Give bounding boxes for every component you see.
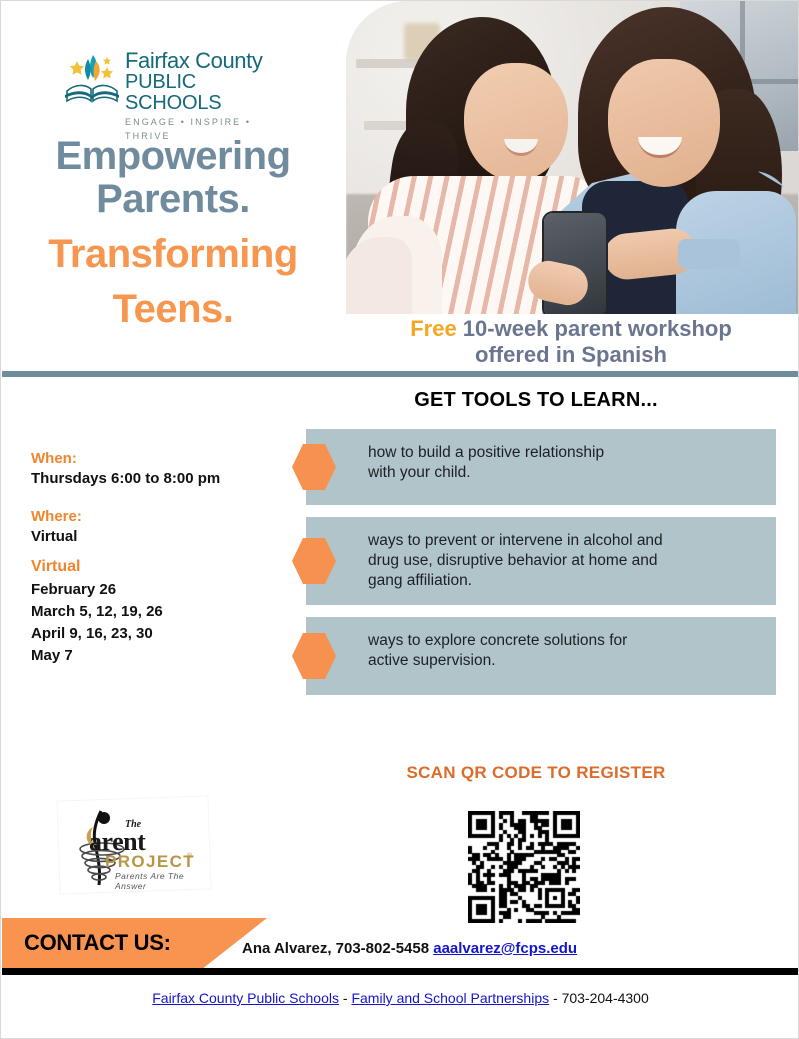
hexagon-bullet-icon [292,631,336,681]
subtitle-line-2: offered in Spanish [346,342,796,368]
benefit-item: ways to explore concrete solutions for a… [306,617,776,695]
hero-photo-mother-and-teen [346,1,799,314]
benefit-text: ways to explore concrete solutions for a… [368,631,760,671]
benefit-item: ways to prevent or intervene in alcohol … [306,517,776,605]
where-label: Where: [31,507,281,527]
qr-code-canvas[interactable] [468,811,580,923]
schedule-line: April 9, 16, 23, 30 [31,623,281,645]
headline-line-3: Transforming [23,233,323,276]
benefit-line: with your child. [368,463,760,483]
qr-heading: SCAN QR CODE TO REGISTER [301,763,771,783]
event-details: When: Thursdays 6:00 to 8:00 pm Where: V… [31,449,281,547]
parent-cuff [678,239,740,269]
parent-face [608,59,720,187]
benefit-item: how to build a positive relationship wit… [306,429,776,505]
contact-label: CONTACT US: [24,930,171,956]
fcps-name-line1: Fairfax County [125,49,263,72]
fcps-name-line2: PUBLIC SCHOOLS [125,72,263,114]
schedule-line: March 5, 12, 19, 26 [31,601,281,623]
benefit-line: ways to prevent or intervene in alcohol … [368,531,760,551]
logo-tagline: Parents Are The Answer [115,871,209,891]
subtitle-line-1: Free 10-week parent workshop [346,316,796,342]
footer-link-fcps[interactable]: Fairfax County Public Schools [152,990,339,1006]
headline-line-4: Teens. [23,288,323,331]
fcps-logo: Fairfax County PUBLIC SCHOOLS ENGAGE • I… [63,49,263,111]
contact-info: Ana Alvarez, 703-802-5458 aaalvarez@fcps… [242,940,577,957]
subtitle-highlight: Free [410,316,456,341]
footer-phone: 703-204-4300 [562,990,649,1006]
teen-face [464,63,568,181]
headline-line-2: Parents. [23,178,323,221]
fcps-logo-text: Fairfax County PUBLIC SCHOOLS ENGAGE • I… [125,49,263,143]
benefit-line: gang affiliation. [368,571,760,591]
schedule-line: February 26 [31,579,281,601]
tools-heading: GET TOOLS TO LEARN... [301,389,771,412]
when-value: Thursdays 6:00 to 8:00 pm [31,469,281,489]
section-divider [2,371,799,377]
footer: Fairfax County Public Schools - Family a… [2,990,799,1006]
spacer [31,489,281,507]
contact-banner: CONTACT US: Ana Alvarez, 703-802-5458 aa… [2,918,799,968]
logo-project-text: PROJECT [105,852,195,872]
benefit-line: active supervision. [368,651,760,671]
footer-separator: - [549,990,561,1006]
hexagon-bullet-icon [292,442,336,492]
teen-sleeve [346,237,412,314]
benefit-line: drug use, disruptive behavior at home an… [368,551,760,571]
benefit-text: how to build a positive relationship wit… [368,443,760,483]
subtitle-rest: 10-week parent workshop [457,316,732,341]
logo-registered-mark: ® [187,853,192,860]
contact-name-phone: Ana Alvarez, 703-802-5458 [242,940,433,957]
benefits-list: how to build a positive relationship wit… [306,429,776,707]
contact-email-link[interactable]: aaalvarez@fcps.edu [433,940,577,957]
benefit-line: ways to explore concrete solutions for [368,631,760,651]
footer-link-partnerships[interactable]: Family and School Partnerships [351,990,549,1006]
schedule-line: May 7 [31,645,281,667]
footer-rule [2,968,799,975]
schedule-heading: Virtual [31,555,281,579]
subtitle: Free 10-week parent workshop offered in … [346,316,796,368]
hexagon-bullet-icon [292,536,336,586]
schedule-list: Virtual February 26 March 5, 12, 19, 26 … [31,555,281,667]
when-label: When: [31,449,281,469]
flyer-headline: Empowering Parents. Transforming Teens. [23,135,323,331]
parent-project-logo: The arent PROJECT ® Parents Are The Answ… [59,799,209,891]
fcps-book-flame-icon [63,51,121,107]
benefit-line: how to build a positive relationship [368,443,760,463]
where-value: Virtual [31,527,281,547]
headline-line-1: Empowering [23,135,323,178]
benefit-text: ways to prevent or intervene in alcohol … [368,531,760,591]
footer-separator: - [339,990,351,1006]
qr-code[interactable] [468,811,580,923]
flyer-page: Fairfax County PUBLIC SCHOOLS ENGAGE • I… [0,0,799,1039]
